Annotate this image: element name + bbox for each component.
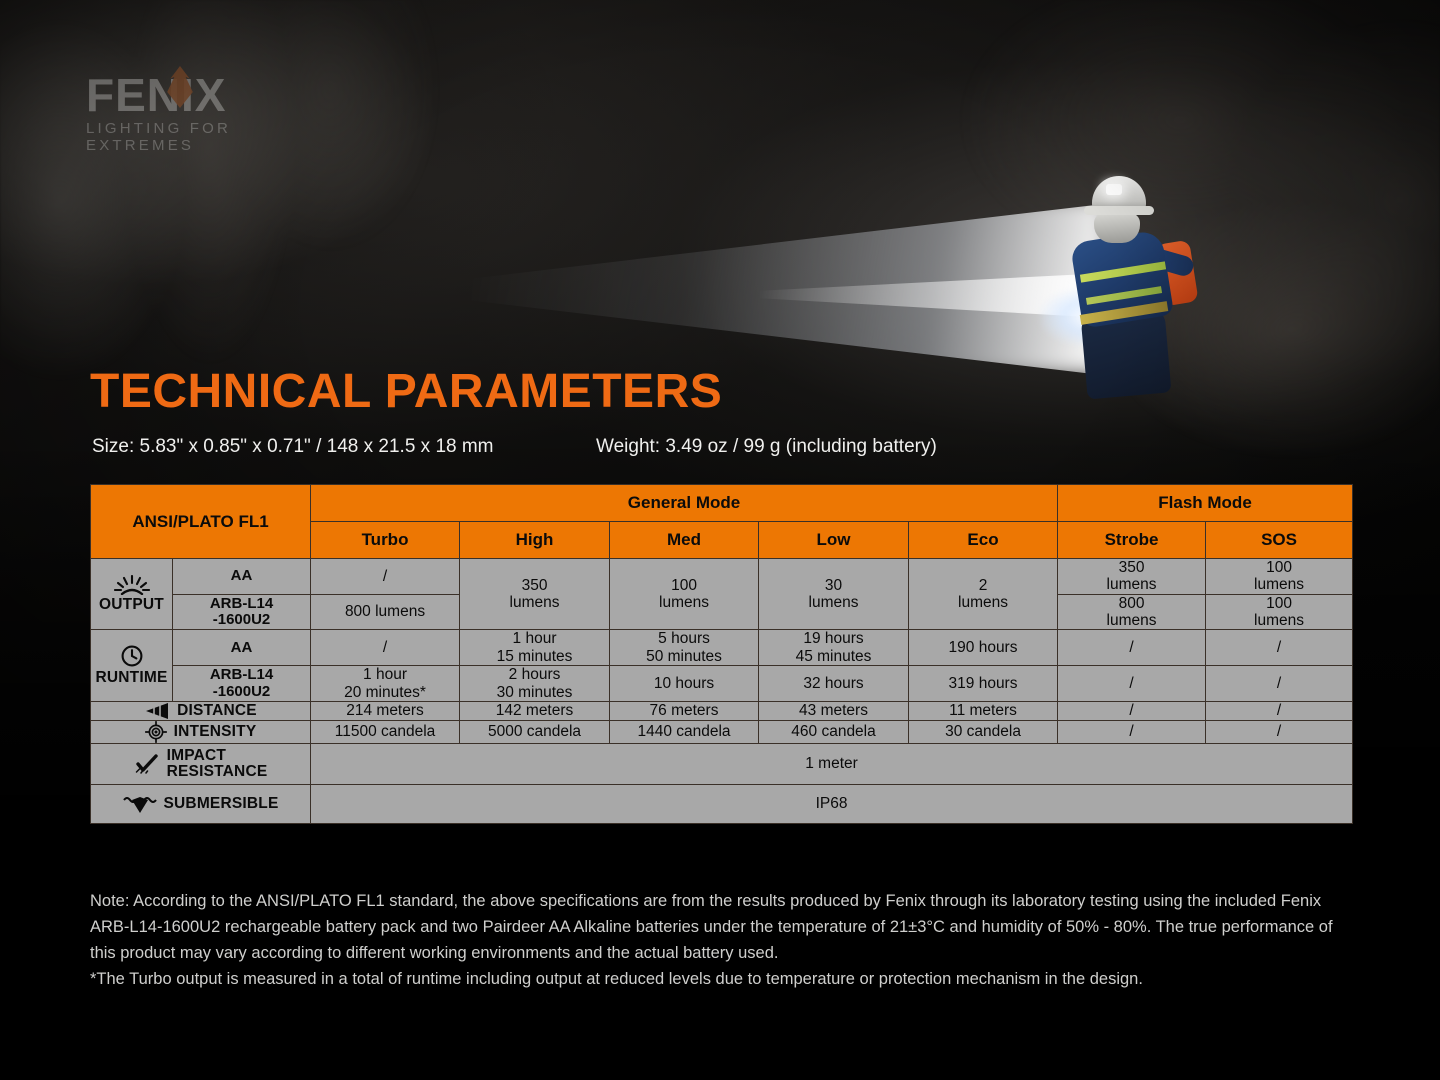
water-drop-icon — [123, 794, 157, 814]
sunburst-icon — [114, 575, 150, 595]
cell-output-arb-sos: 100lumens — [1206, 594, 1353, 630]
table-row-runtime-arb: ARB-L14 -1600U2 1 hour20 minutes* 2 hour… — [91, 666, 1353, 702]
cell-submersible-value: IP68 — [311, 784, 1353, 823]
fenix-logo: FENIX LIGHTING FOR EXTREMES — [86, 72, 346, 144]
column-header-med: Med — [610, 522, 759, 559]
cell-output-aa-sos: 100lumens — [1206, 559, 1353, 595]
table-row-intensity: INTENSITY 11500 candela 5000 candela 144… — [91, 720, 1353, 743]
cell-runtime-aa-sos: / — [1206, 630, 1353, 666]
footnote-standard: Note: According to the ANSI/PLATO FL1 st… — [90, 888, 1356, 966]
row-label-impact-resistance-text: IMPACT RESISTANCE — [167, 748, 268, 780]
cell-runtime-arb-sos: / — [1206, 666, 1353, 702]
column-header-turbo: Turbo — [311, 522, 460, 559]
cell-runtime-arb-turbo: 1 hour20 minutes* — [311, 666, 460, 702]
cell-runtime-arb-eco: 319 hours — [909, 666, 1058, 702]
cell-distance-low: 43 meters — [759, 701, 909, 720]
cell-runtime-arb-high: 2 hours30 minutes — [460, 666, 610, 702]
cell-output-low: 30lumens — [759, 559, 909, 630]
table-row-distance: DISTANCE 214 meters 142 meters 76 meters… — [91, 701, 1353, 720]
row-label-intensity: INTENSITY — [91, 720, 311, 743]
target-intensity-icon — [145, 721, 167, 743]
specifications-table-wrapper: ANSI/PLATO FL1 General Mode Flash Mode T… — [90, 484, 1352, 824]
clock-icon — [120, 644, 144, 668]
cell-runtime-aa-eco: 190 hours — [909, 630, 1058, 666]
row-label-impact-resistance: IMPACT RESISTANCE — [91, 743, 311, 784]
cell-output-high: 350lumens — [460, 559, 610, 630]
cell-intensity-turbo: 11500 candela — [311, 720, 460, 743]
cell-runtime-aa-low: 19 hours45 minutes — [759, 630, 909, 666]
logo-tagline: LIGHTING FOR EXTREMES — [86, 120, 346, 154]
battery-label-aa-output: AA — [173, 559, 311, 595]
column-header-low: Low — [759, 522, 909, 559]
cell-runtime-aa-high: 1 hour15 minutes — [460, 630, 610, 666]
cell-distance-strobe: / — [1058, 701, 1206, 720]
table-row-submersible: SUBMERSIBLE IP68 — [91, 784, 1353, 823]
row-label-intensity-text: INTENSITY — [174, 723, 257, 741]
cell-output-aa-strobe: 350lumens — [1058, 559, 1206, 595]
dimension-summary: Size: 5.83" x 0.85" x 0.71" / 148 x 21.5… — [92, 436, 1352, 462]
table-row-impact-resistance: IMPACT RESISTANCE 1 meter — [91, 743, 1353, 784]
column-header-high: High — [460, 522, 610, 559]
row-label-runtime: RUNTIME — [91, 630, 173, 701]
group-header-general: General Mode — [311, 485, 1058, 522]
cell-output-aa-turbo: / — [311, 559, 460, 595]
footnotes: Note: According to the ANSI/PLATO FL1 st… — [90, 888, 1356, 992]
page-title: TECHNICAL PARAMETERS — [90, 364, 722, 419]
column-header-strobe: Strobe — [1058, 522, 1206, 559]
specifications-table: ANSI/PLATO FL1 General Mode Flash Mode T… — [90, 484, 1353, 824]
column-header-eco: Eco — [909, 522, 1058, 559]
cell-runtime-arb-med: 10 hours — [610, 666, 759, 702]
cell-impact-resistance-value: 1 meter — [311, 743, 1353, 784]
cell-runtime-aa-strobe: / — [1058, 630, 1206, 666]
row-label-submersible-text: SUBMERSIBLE — [164, 795, 279, 813]
cell-distance-turbo: 214 meters — [311, 701, 460, 720]
cell-intensity-sos: / — [1206, 720, 1353, 743]
battery-label-arb-runtime: ARB-L14 -1600U2 — [173, 666, 311, 702]
size-text: Size: 5.83" x 0.85" x 0.71" / 148 x 21.5… — [92, 436, 494, 458]
cell-intensity-low: 460 candela — [759, 720, 909, 743]
cell-distance-sos: / — [1206, 701, 1353, 720]
table-header-row-groups: ANSI/PLATO FL1 General Mode Flash Mode — [91, 485, 1353, 522]
impact-resistance-icon — [134, 754, 160, 774]
cell-output-eco: 2lumens — [909, 559, 1058, 630]
cell-runtime-aa-turbo: / — [311, 630, 460, 666]
cell-output-arb-strobe: 800lumens — [1058, 594, 1206, 630]
beam-distance-icon — [144, 702, 170, 720]
group-header-flash: Flash Mode — [1058, 485, 1353, 522]
cell-intensity-med: 1440 candela — [610, 720, 759, 743]
cell-runtime-arb-strobe: / — [1058, 666, 1206, 702]
cell-runtime-arb-low: 32 hours — [759, 666, 909, 702]
spec-sheet-page: FENIX LIGHTING FOR EXTREMES TECHNICAL PA… — [0, 0, 1440, 1080]
corner-label: ANSI/PLATO FL1 — [91, 485, 311, 559]
row-label-output-text: OUTPUT — [99, 596, 164, 614]
cell-distance-med: 76 meters — [610, 701, 759, 720]
cell-distance-high: 142 meters — [460, 701, 610, 720]
cell-distance-eco: 11 meters — [909, 701, 1058, 720]
cell-output-arb-turbo: 800 lumens — [311, 594, 460, 630]
weight-text: Weight: 3.49 oz / 99 g (including batter… — [596, 436, 937, 458]
cell-intensity-strobe: / — [1058, 720, 1206, 743]
cell-intensity-eco: 30 candela — [909, 720, 1058, 743]
table-row-output-aa: OUTPUT AA / 350lumens 100lumens 30lumens… — [91, 559, 1353, 595]
row-label-distance: DISTANCE — [91, 701, 311, 720]
row-label-distance-text: DISTANCE — [177, 702, 257, 720]
row-label-runtime-text: RUNTIME — [95, 669, 167, 687]
cell-output-med: 100lumens — [610, 559, 759, 630]
cell-intensity-high: 5000 candela — [460, 720, 610, 743]
logo-wordmark: FENIX — [86, 72, 346, 118]
battery-label-arb-output: ARB-L14 -1600U2 — [173, 594, 311, 630]
column-header-sos: SOS — [1206, 522, 1353, 559]
footnote-turbo: *The Turbo output is measured in a total… — [90, 966, 1356, 992]
cell-runtime-aa-med: 5 hours50 minutes — [610, 630, 759, 666]
row-label-submersible: SUBMERSIBLE — [91, 784, 311, 823]
row-label-output: OUTPUT — [91, 559, 173, 630]
battery-label-aa-runtime: AA — [173, 630, 311, 666]
table-row-runtime-aa: RUNTIME AA / 1 hour15 minutes 5 hours50 … — [91, 630, 1353, 666]
